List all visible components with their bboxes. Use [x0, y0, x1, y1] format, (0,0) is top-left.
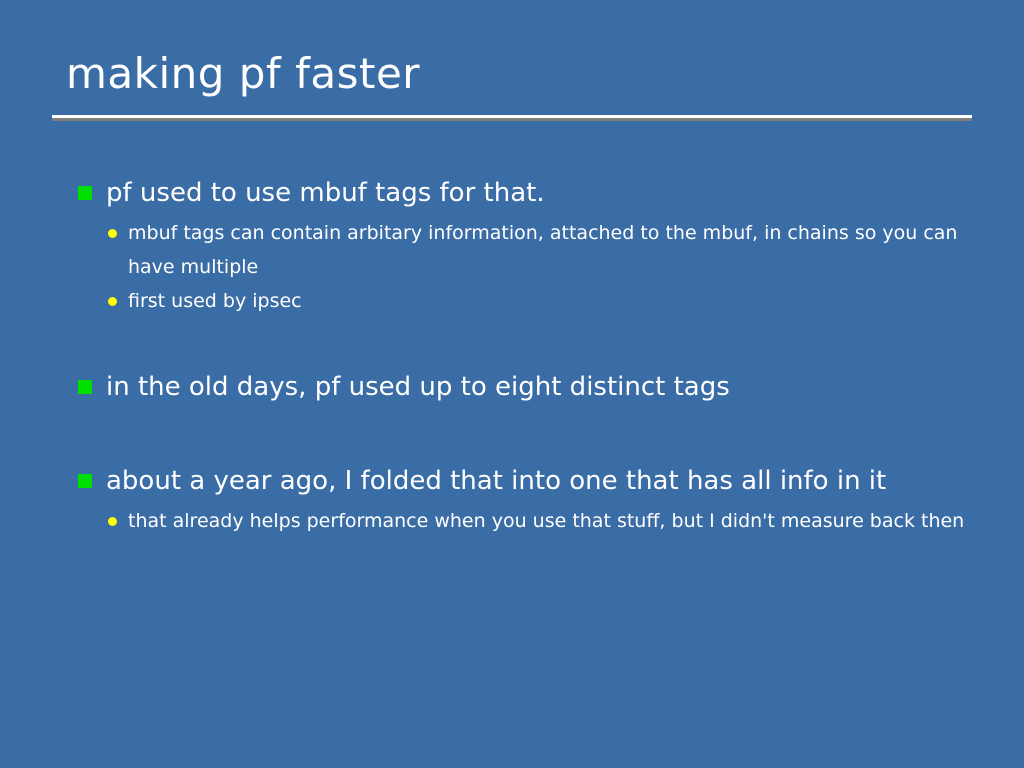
square-bullet-icon: [78, 186, 92, 200]
bullet-group: pf used to use mbuf tags for that. mbuf …: [76, 172, 976, 318]
bullet-level2: first used by ipsec: [76, 284, 976, 318]
bullet-level1: pf used to use mbuf tags for that.: [76, 172, 976, 214]
title-divider: [52, 115, 972, 120]
bullet-level1-label: pf used to use mbuf tags for that.: [106, 178, 545, 208]
page-title: making pf faster: [66, 48, 972, 100]
bullet-level2: that already helps performance when you …: [76, 504, 976, 538]
dot-bullet-icon: [108, 297, 117, 306]
square-bullet-icon: [78, 380, 92, 394]
bullet-group: about a year ago, I folded that into one…: [76, 460, 976, 538]
slide-body: pf used to use mbuf tags for that. mbuf …: [76, 172, 976, 538]
dot-bullet-icon: [108, 517, 117, 526]
sub-bullet-list: that already helps performance when you …: [76, 504, 976, 538]
bullet-level1-label: about a year ago, I folded that into one…: [106, 466, 886, 496]
bullet-level1: about a year ago, I folded that into one…: [76, 460, 976, 502]
divider-shadow: [52, 118, 972, 121]
bullet-level2-label: mbuf tags can contain arbitary informati…: [128, 222, 957, 278]
title-block: making pf faster: [52, 48, 972, 100]
bullet-level1: in the old days, pf used up to eight dis…: [76, 366, 976, 408]
slide: making pf faster pf used to use mbuf tag…: [0, 0, 1024, 768]
bullet-group: in the old days, pf used up to eight dis…: [76, 366, 976, 408]
bullet-level2-label: that already helps performance when you …: [128, 510, 964, 532]
bullet-level1-label: in the old days, pf used up to eight dis…: [106, 372, 730, 402]
bullet-level2-label: first used by ipsec: [128, 290, 302, 312]
dot-bullet-icon: [108, 229, 117, 238]
sub-bullet-list: mbuf tags can contain arbitary informati…: [76, 216, 976, 318]
square-bullet-icon: [78, 474, 92, 488]
bullet-level2: mbuf tags can contain arbitary informati…: [76, 216, 976, 284]
